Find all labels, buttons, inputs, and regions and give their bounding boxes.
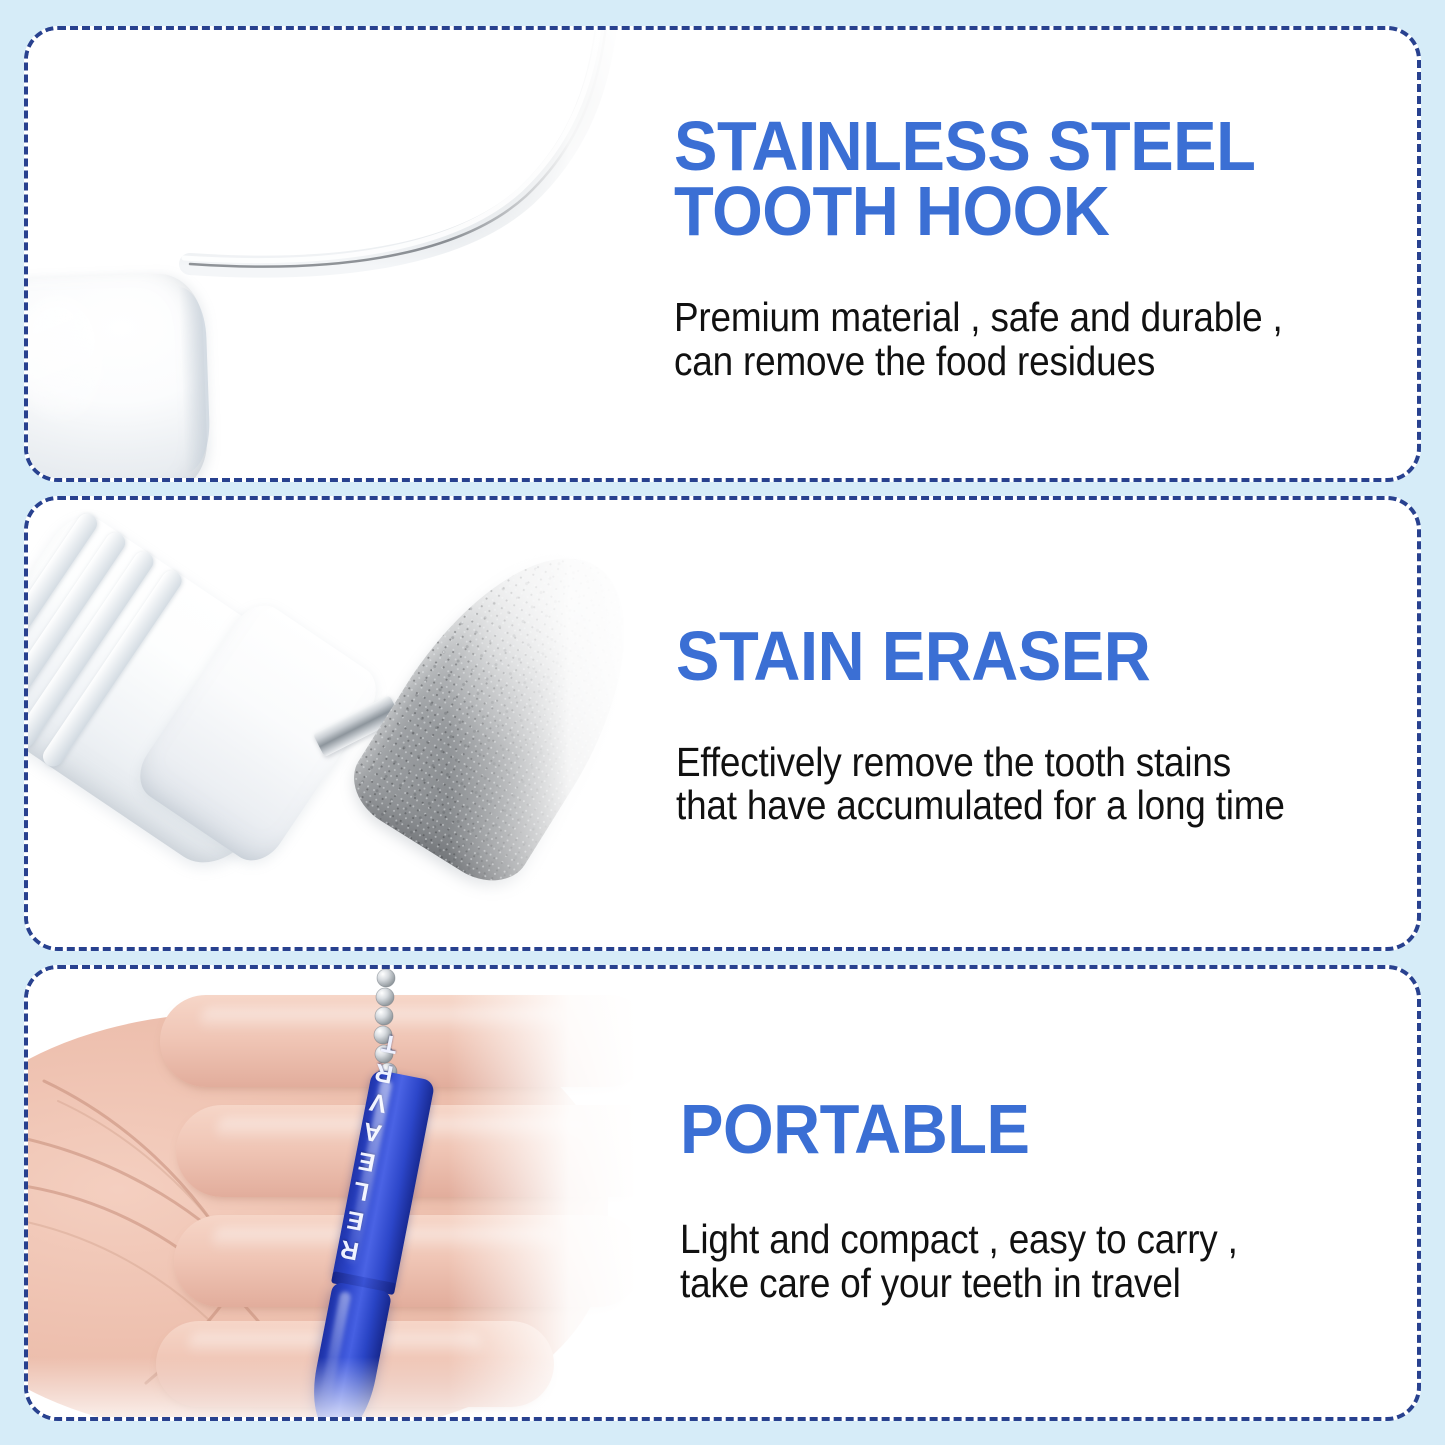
feature-title: PORTABLE xyxy=(680,1097,1349,1162)
finger xyxy=(174,1215,644,1307)
feature-title: STAIN ERASER xyxy=(676,624,1348,689)
feature-description: Light and compact , easy to carry , take… xyxy=(680,1218,1327,1305)
portable-pen-in-hand-photo: RELEAVRT xyxy=(28,969,668,1417)
feature-panel-stainless-steel-tooth-hook: STAINLESS STEEL TOOTH HOOK Premium mater… xyxy=(24,26,1421,482)
tooth-hook-illustration xyxy=(28,30,668,478)
hand-illustration: RELEAVRT xyxy=(28,969,668,1417)
steel-hook-wire-icon xyxy=(124,30,668,364)
tooth-hook-handle xyxy=(28,272,209,477)
stain-eraser-illustration xyxy=(28,500,668,948)
tooth-hook-photo xyxy=(28,30,668,478)
feature-description: Premium material , safe and durable , ca… xyxy=(674,296,1327,383)
feature-description: Effectively remove the tooth stains that… xyxy=(676,741,1327,828)
feature-panel-stain-eraser: STAIN ERASER Effectively remove the toot… xyxy=(24,496,1421,952)
feature-copy-block: STAINLESS STEEL TOOTH HOOK Premium mater… xyxy=(668,30,1417,478)
feature-panel-portable: RELEAVRT PORTABLE Light and compact , ea… xyxy=(24,965,1421,1421)
feature-copy-block: PORTABLE Light and compact , easy to car… xyxy=(668,969,1417,1417)
infographic-board: STAINLESS STEEL TOOTH HOOK Premium mater… xyxy=(0,0,1445,1445)
feature-copy-block: STAIN ERASER Effectively remove the toot… xyxy=(668,500,1417,948)
handle-highlight xyxy=(28,298,105,419)
feature-title: STAINLESS STEEL TOOTH HOOK xyxy=(674,114,1348,244)
stain-eraser-photo xyxy=(28,500,668,948)
